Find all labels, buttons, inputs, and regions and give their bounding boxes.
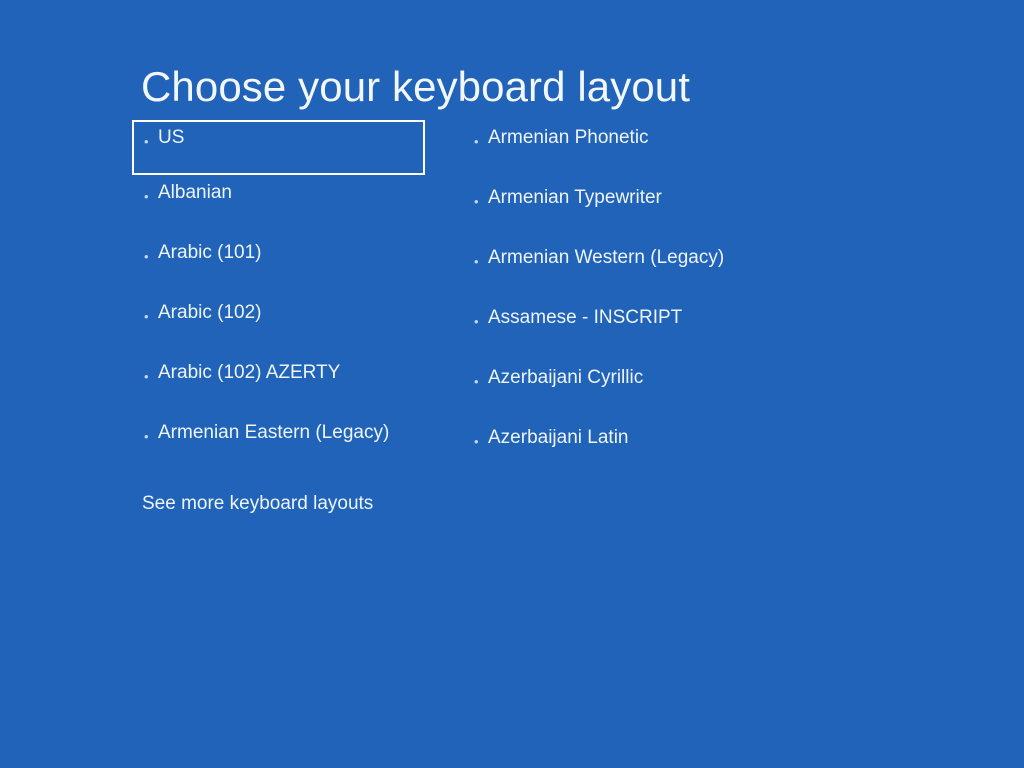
keyboard-layout-option-label: Arabic (102) [158, 301, 432, 325]
keyboard-layout-option[interactable]: Albanian [132, 175, 432, 235]
keyboard-layout-option[interactable]: Armenian Phonetic [462, 120, 792, 180]
keyboard-layout-list-left: USAlbanianArabic (101)Arabic (102)Arabic… [132, 120, 432, 475]
bullet-icon [474, 435, 488, 448]
keyboard-layout-option-label: Assamese - INSCRIPT [488, 306, 792, 330]
keyboard-layout-option-label: Arabic (102) AZERTY [158, 361, 432, 385]
bullet-icon [144, 250, 158, 263]
keyboard-layout-list-right: Armenian PhoneticArmenian TypewriterArme… [462, 120, 792, 480]
keyboard-layout-option[interactable]: Armenian Eastern (Legacy) [132, 415, 432, 475]
keyboard-layout-option[interactable]: Arabic (102) AZERTY [132, 355, 432, 415]
keyboard-layout-option[interactable]: US [132, 120, 425, 175]
keyboard-layout-option-label: Azerbaijani Cyrillic [488, 366, 792, 390]
bullet-icon [144, 430, 158, 443]
bullet-icon [144, 310, 158, 323]
keyboard-layout-option-label: Albanian [158, 181, 432, 205]
keyboard-layout-option[interactable]: Armenian Typewriter [462, 180, 792, 240]
keyboard-layout-option-label: Armenian Typewriter [488, 186, 792, 210]
keyboard-layout-option[interactable]: Armenian Western (Legacy) [462, 240, 792, 300]
keyboard-layout-option[interactable]: Azerbaijani Cyrillic [462, 360, 792, 420]
bullet-icon [474, 255, 488, 268]
keyboard-layout-option-label: Armenian Phonetic [488, 126, 792, 150]
keyboard-layout-option-label: Armenian Eastern (Legacy) [158, 421, 432, 445]
keyboard-layout-screen: Choose your keyboard layout USAlbanianAr… [0, 0, 1024, 768]
bullet-icon [474, 315, 488, 328]
page-title: Choose your keyboard layout [141, 63, 690, 111]
keyboard-layout-option-label: Azerbaijani Latin [488, 426, 792, 450]
keyboard-layout-option-label: US [158, 126, 423, 150]
keyboard-layout-option[interactable]: Assamese - INSCRIPT [462, 300, 792, 360]
bullet-icon [474, 375, 488, 388]
keyboard-layout-option[interactable]: Azerbaijani Latin [462, 420, 792, 480]
keyboard-layout-option-label: Arabic (101) [158, 241, 432, 265]
bullet-icon [144, 370, 158, 383]
see-more-keyboard-layouts-link[interactable]: See more keyboard layouts [142, 492, 373, 516]
bullet-icon [144, 190, 158, 203]
keyboard-layout-option[interactable]: Arabic (102) [132, 295, 432, 355]
bullet-icon [474, 135, 488, 148]
bullet-icon [474, 195, 488, 208]
bullet-icon [144, 135, 158, 148]
keyboard-layout-option[interactable]: Arabic (101) [132, 235, 432, 295]
keyboard-layout-option-label: Armenian Western (Legacy) [488, 246, 792, 270]
